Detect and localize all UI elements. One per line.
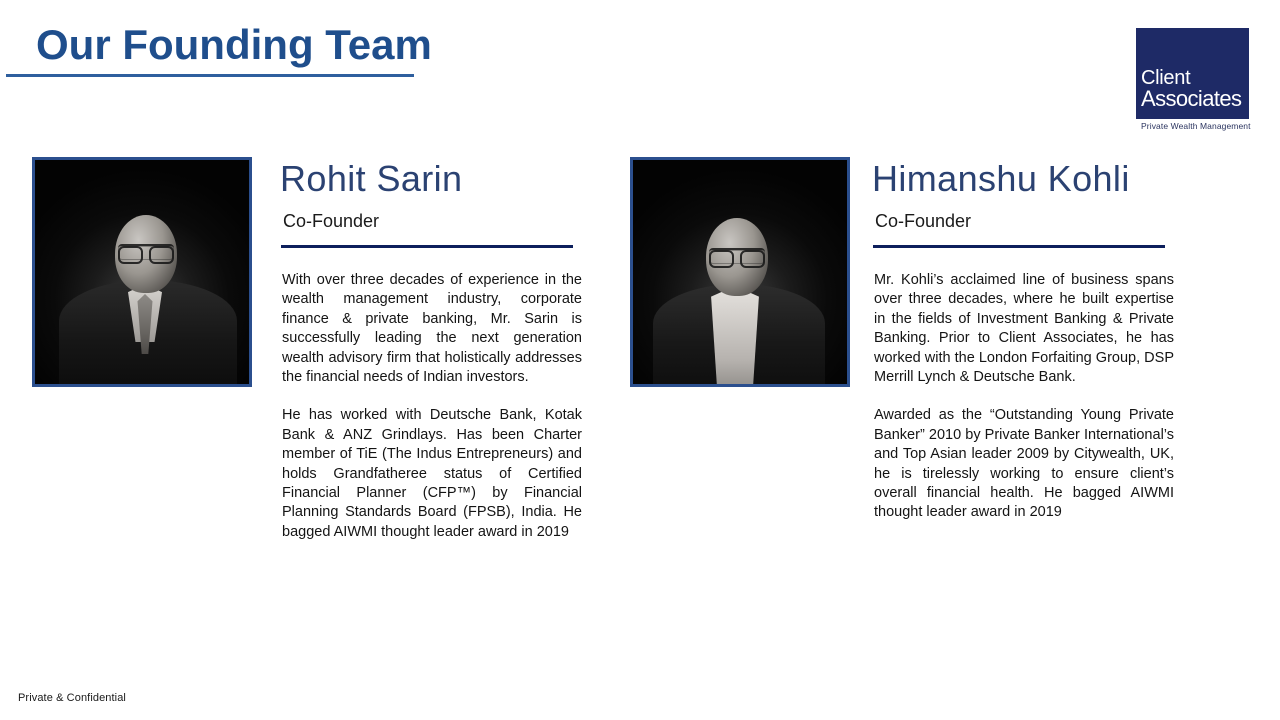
portrait-glasses-shape <box>709 248 765 264</box>
portrait-shirt-shape <box>709 286 761 387</box>
founder-photo-himanshu-kohli <box>630 157 850 387</box>
founder-bio-paragraph: Mr. Kohli’s acclaimed line of business s… <box>874 271 1174 387</box>
founder-bio-paragraph: Awarded as the “Outstanding Young Privat… <box>874 406 1174 522</box>
founder-bio-paragraph: With over three decades of experience in… <box>282 271 582 387</box>
founder-divider-rule <box>873 245 1165 248</box>
founder-role: Co-Founder <box>283 209 573 233</box>
founder-name: Himanshu Kohli <box>872 157 1165 201</box>
founder-role: Co-Founder <box>875 209 1165 233</box>
founder-info-rohit-sarin: Rohit Sarin Co-Founder With over three d… <box>280 157 573 542</box>
founder-photo-rohit-sarin <box>32 157 252 387</box>
logo-text-client: Client <box>1141 68 1190 88</box>
logo-box: Client Associates <box>1136 28 1249 119</box>
logo-tagline: Private Wealth Management <box>1136 121 1249 131</box>
page-title: Our Founding Team <box>36 22 432 68</box>
portrait-glasses-shape <box>118 244 174 260</box>
founder-divider-rule <box>281 245 573 248</box>
logo-text-associates: Associates <box>1141 88 1241 110</box>
confidentiality-footer: Private & Confidential <box>18 692 126 704</box>
founder-info-himanshu-kohli: Himanshu Kohli Co-Founder Mr. Kohli’s ac… <box>872 157 1165 523</box>
founder-bio-paragraph: He has worked with Deutsche Bank, Kotak … <box>282 406 582 542</box>
founder-name: Rohit Sarin <box>280 157 573 201</box>
company-logo: Client Associates Private Wealth Managem… <box>1136 28 1249 131</box>
title-underline-rule <box>6 74 414 77</box>
